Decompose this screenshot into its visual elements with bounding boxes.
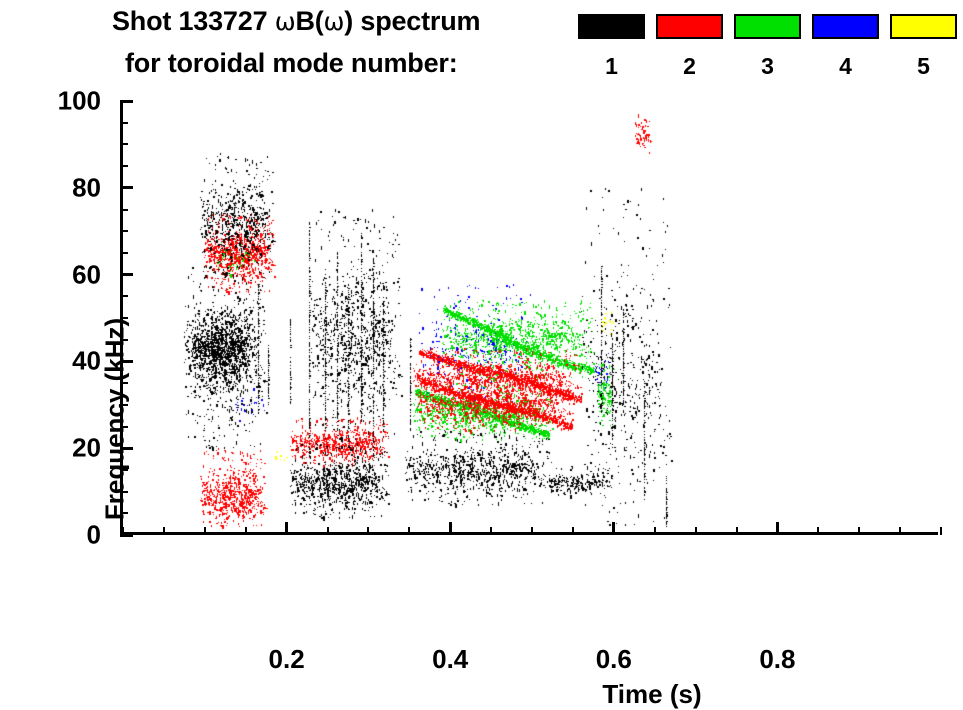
x-tick xyxy=(245,527,247,535)
y-tick-label-20: 20 xyxy=(72,433,101,464)
x-axis-title: Time (s) xyxy=(602,679,701,710)
spectrogram-canvas xyxy=(123,101,941,535)
x-tick xyxy=(285,522,288,535)
figure-title-line2: for toroidal mode number: xyxy=(125,48,458,79)
x-tick xyxy=(940,527,942,535)
legend-item-3: 3 xyxy=(734,14,801,80)
legend-item-1: 1 xyxy=(578,14,645,80)
x-tick xyxy=(776,522,779,535)
legend-item-5: 5 xyxy=(890,14,957,80)
x-tick-label-0.8: 0.8 xyxy=(759,644,795,675)
y-tick xyxy=(120,209,128,211)
legend-label-2: 2 xyxy=(656,53,723,80)
title-shot-text: Shot 133727 xyxy=(112,6,275,36)
x-tick xyxy=(817,527,819,535)
x-tick xyxy=(327,527,329,535)
x-tick xyxy=(204,527,206,535)
y-tick-label-0: 0 xyxy=(87,520,101,551)
title-b-text: B( xyxy=(295,6,323,36)
legend-swatch-2 xyxy=(656,14,723,39)
legend-label-3: 3 xyxy=(734,53,801,80)
legend-swatch-5 xyxy=(890,14,957,39)
x-tick-label-0.2: 0.2 xyxy=(269,644,305,675)
x-tick xyxy=(531,527,533,535)
y-tick xyxy=(120,230,128,232)
x-tick xyxy=(490,527,492,535)
plot-area: 0.20.40.60.8 020406080100 Time (s) Frequ… xyxy=(120,101,938,535)
y-tick-label-100: 100 xyxy=(58,86,101,117)
spectrogram-figure: Shot 133727 ωB(ω) spectrum for toroidal … xyxy=(0,0,963,615)
y-tick xyxy=(120,534,133,537)
legend-swatch-1 xyxy=(578,14,645,39)
x-tick xyxy=(858,527,860,535)
x-tick xyxy=(695,527,697,535)
y-axis-title: Frequency (kHz) xyxy=(100,318,131,520)
y-tick xyxy=(120,100,133,103)
legend-label-1: 1 xyxy=(578,53,645,80)
title-spectrum-text: ) spectrum xyxy=(344,6,480,36)
legend: 12345 xyxy=(578,14,958,84)
omega-symbol-2: ω xyxy=(324,7,345,36)
legend-swatch-4 xyxy=(812,14,879,39)
x-tick xyxy=(408,527,410,535)
omega-symbol-1: ω xyxy=(275,7,296,36)
legend-label-5: 5 xyxy=(890,53,957,80)
y-tick xyxy=(120,273,133,276)
y-tick xyxy=(120,143,128,145)
y-tick xyxy=(120,252,128,254)
x-tick xyxy=(654,527,656,535)
x-tick-label-0.4: 0.4 xyxy=(432,644,468,675)
x-tick xyxy=(572,527,574,535)
y-tick xyxy=(120,122,128,124)
x-tick xyxy=(612,522,615,535)
x-tick xyxy=(367,527,369,535)
y-tick xyxy=(120,295,128,297)
legend-label-4: 4 xyxy=(812,53,879,80)
x-tick xyxy=(163,527,165,535)
figure-title-line1: Shot 133727 ωB(ω) spectrum xyxy=(112,6,480,37)
x-tick-label-0.6: 0.6 xyxy=(596,644,632,675)
y-tick-label-40: 40 xyxy=(72,346,101,377)
y-tick xyxy=(120,186,133,189)
y-tick xyxy=(120,165,128,167)
y-tick-label-80: 80 xyxy=(72,172,101,203)
x-tick xyxy=(899,527,901,535)
y-tick-label-60: 60 xyxy=(72,259,101,290)
x-tick xyxy=(449,522,452,535)
legend-item-4: 4 xyxy=(812,14,879,80)
legend-item-2: 2 xyxy=(656,14,723,80)
legend-swatch-3 xyxy=(734,14,801,39)
x-tick xyxy=(736,527,738,535)
